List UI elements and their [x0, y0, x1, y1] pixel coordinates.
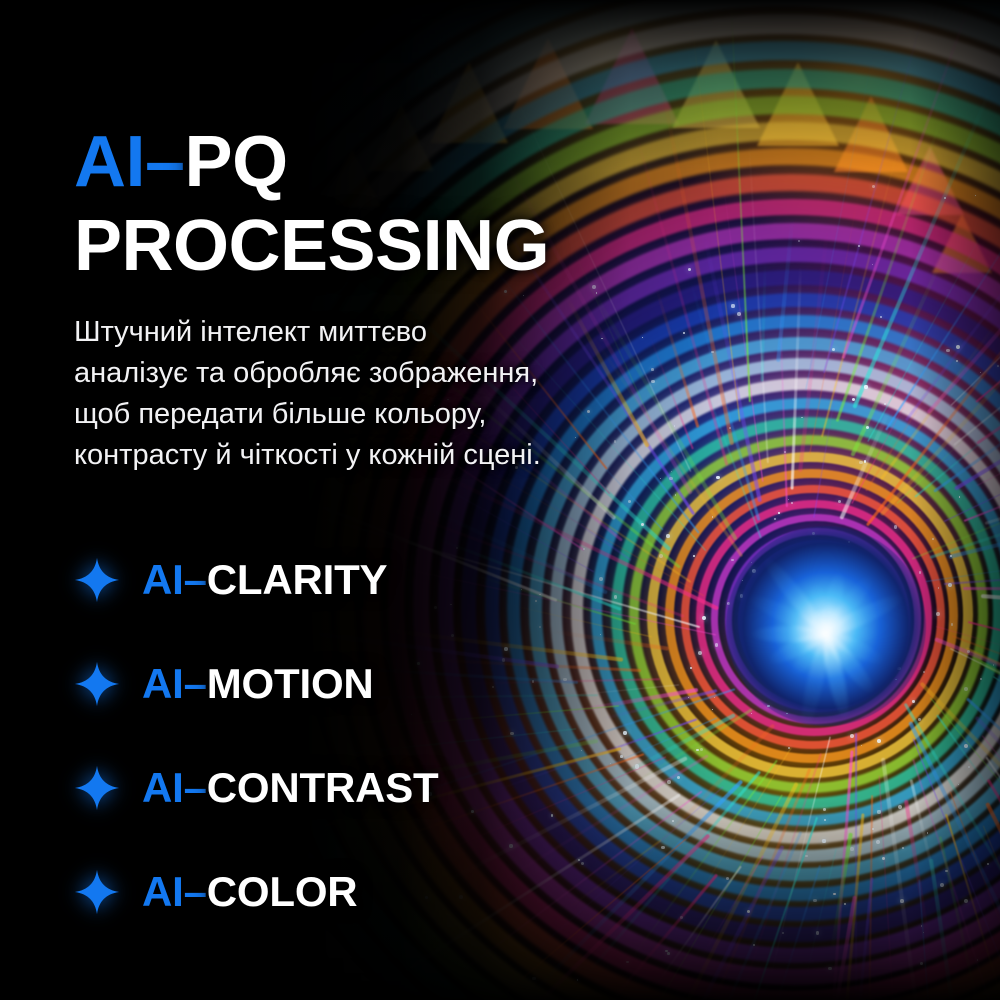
content-layer: AI–PQ PROCESSING Штучний інтелект миттєв… — [0, 0, 1000, 1000]
feature-label: AI–CLARITY — [142, 556, 387, 604]
title-accent: AI– — [74, 122, 185, 202]
sparkle-icon — [74, 661, 120, 707]
body-paragraph: Штучний інтелект миттєво аналізує та обр… — [74, 312, 544, 476]
feature-accent: AI– — [142, 556, 207, 603]
feature-label: AI–CONTRAST — [142, 764, 438, 812]
sparkle-icon — [74, 765, 120, 811]
feature-item-clarity[interactable]: AI–CLARITY — [74, 528, 438, 632]
sparkle-icon — [74, 557, 120, 603]
feature-accent: AI– — [142, 868, 207, 915]
feature-label: AI–COLOR — [142, 868, 357, 916]
feature-list: AI–CLARITYAI–MOTIONAI–CONTRASTAI–COLOR — [74, 528, 438, 944]
page-title: AI–PQ PROCESSING — [74, 120, 549, 288]
feature-accent: AI– — [142, 660, 207, 707]
promo-poster: AI–PQ PROCESSING Штучний інтелект миттєв… — [0, 0, 1000, 1000]
feature-item-motion[interactable]: AI–MOTION — [74, 632, 438, 736]
feature-label: AI–MOTION — [142, 660, 374, 708]
feature-item-contrast[interactable]: AI–CONTRAST — [74, 736, 438, 840]
sparkle-icon — [74, 869, 120, 915]
feature-item-color[interactable]: AI–COLOR — [74, 840, 438, 944]
feature-accent: AI– — [142, 764, 207, 811]
